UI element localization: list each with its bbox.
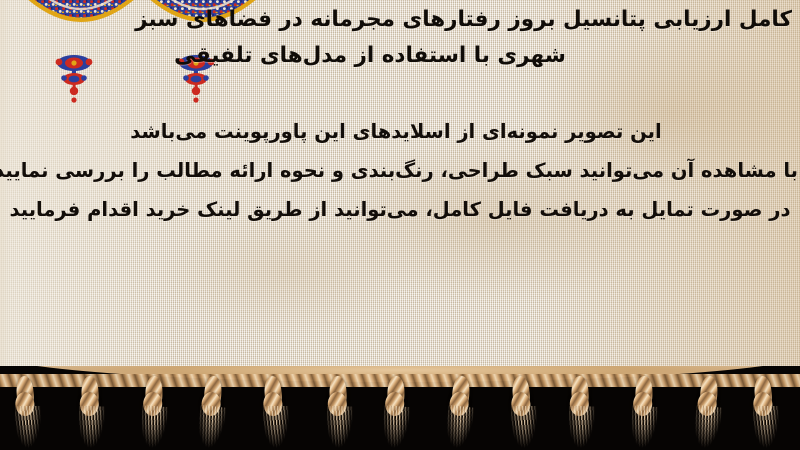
tassel-skirt [568, 406, 595, 450]
tassel-skirt [443, 405, 474, 450]
tassel-skirt [753, 406, 780, 450]
tassel-skirt [263, 406, 290, 450]
fringe-tassel [444, 375, 475, 450]
body-line-3: در صورت تمایل به دریافت فایل کامل، می‌تو… [0, 190, 800, 229]
slide-title: کامل ارزیابی پتانسیل بروز رفتارهای مجرما… [2, 2, 794, 74]
title-line-2: شهری با استفاده از مدل‌های تلفیقی [2, 38, 794, 74]
body-line-1: این تصویر نمونه‌ای از اسلایدهای این پاور… [0, 112, 800, 151]
tassel-skirt [195, 405, 226, 450]
fringe-tassel [196, 375, 227, 450]
title-line-1: کامل ارزیابی پتانسیل بروز رفتارهای مجرما… [2, 2, 794, 38]
fringe-tassel [692, 375, 723, 450]
fringe-tassel [12, 375, 43, 450]
tassel-skirt [325, 406, 352, 450]
tassel-skirt [381, 405, 410, 450]
slide-body: این تصویر نمونه‌ای از اسلایدهای این پاور… [0, 112, 800, 229]
fringe-tassel [325, 376, 353, 450]
slide-canvas: کامل ارزیابی پتانسیل بروز رفتارهای مجرما… [0, 0, 800, 450]
fringe-tassel [567, 376, 595, 450]
fringe-tassel [631, 376, 659, 450]
tassel-skirt [629, 405, 658, 450]
fringe-tassel [750, 375, 781, 450]
fringe-tassel [260, 375, 291, 450]
body-line-2: با مشاهده آن می‌توانید سبک طراحی، رنگ‌بن… [0, 151, 800, 190]
tassel-skirt [139, 405, 168, 450]
tassel-skirt [15, 406, 42, 450]
tassel-skirt [691, 405, 722, 450]
fringe-tassel [77, 376, 105, 450]
fringe-tassel [508, 375, 539, 450]
tassel-skirt [511, 406, 538, 450]
fringe-tassel [140, 376, 168, 450]
fringe-tassel [382, 376, 410, 450]
tassel-skirt [77, 406, 104, 450]
carpet-fringe-tassels [0, 366, 800, 450]
